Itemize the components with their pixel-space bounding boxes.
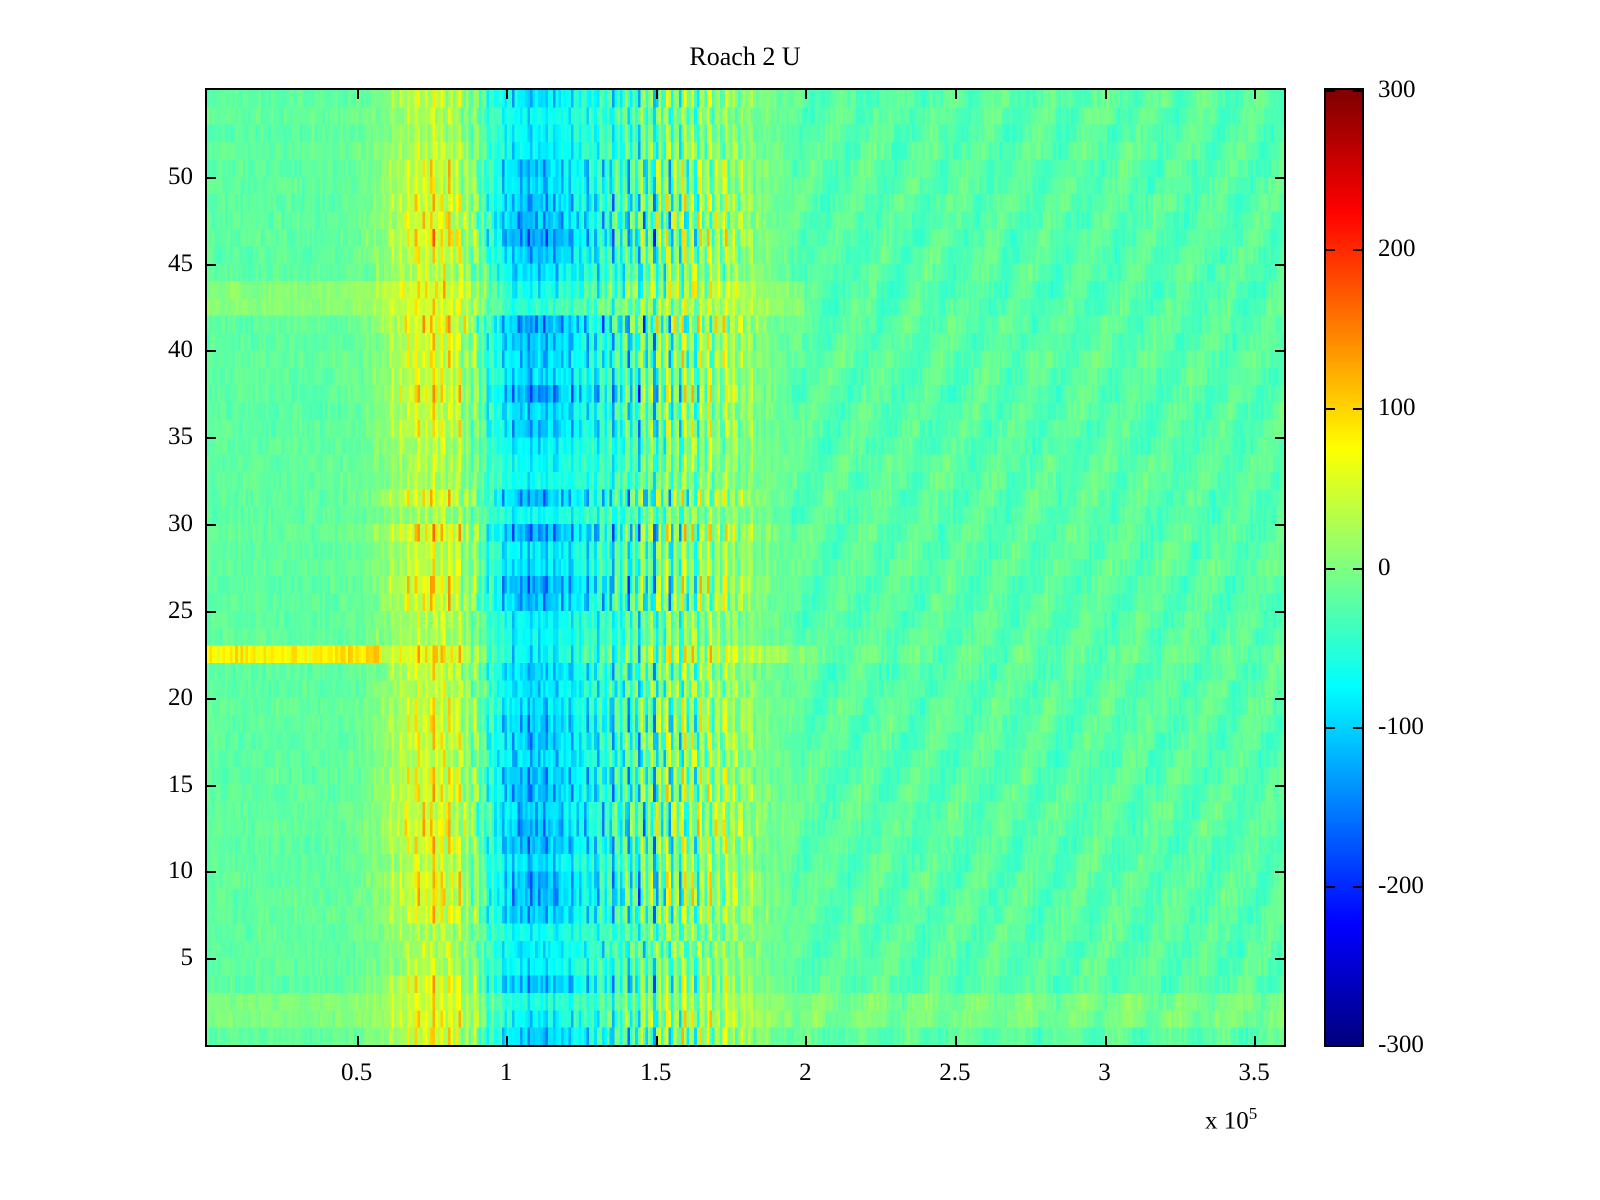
x-axis-tick-label: 1.5	[640, 1059, 671, 1087]
y-axis-tick-label: 50	[135, 163, 193, 191]
y-axis-tick-label: 35	[135, 423, 193, 451]
colorbar-tick-label: -300	[1378, 1031, 1424, 1059]
y-axis-tick	[207, 437, 216, 439]
x-axis-tick-label: 0.5	[341, 1059, 372, 1087]
y-axis-tick-label: 30	[135, 510, 193, 538]
x-axis-tick-label: 3.5	[1238, 1059, 1269, 1087]
colorbar-tick	[1326, 1045, 1335, 1047]
y-axis-tick	[207, 698, 216, 700]
colorbar-tick	[1353, 886, 1362, 888]
y-axis-tick	[1275, 177, 1284, 179]
colorbar-tick-label: 200	[1378, 235, 1416, 263]
x-axis-tick	[805, 90, 807, 99]
x-axis-tick-label: 1	[500, 1059, 513, 1087]
y-axis-tick-label: 40	[135, 336, 193, 364]
colorbar-tick	[1326, 249, 1335, 251]
x-axis-tick	[357, 1036, 359, 1045]
colorbar-tick-label: 0	[1378, 554, 1391, 582]
y-axis-tick	[1275, 350, 1284, 352]
colorbar-tick	[1353, 90, 1362, 92]
figure-canvas: Roach 2 U 0.511.522.533.5510152025303540…	[0, 0, 1600, 1200]
y-axis-tick	[207, 350, 216, 352]
colorbar[interactable]	[1324, 88, 1364, 1047]
colorbar-tick	[1353, 408, 1362, 410]
x-axis-tick-label: 3	[1098, 1059, 1111, 1087]
y-axis-tick	[1275, 871, 1284, 873]
y-axis-tick	[1275, 785, 1284, 787]
colorbar-tick-label: 100	[1378, 394, 1416, 422]
colorbar-tick	[1326, 568, 1335, 570]
x-axis-tick	[1105, 90, 1107, 99]
y-axis-tick	[207, 611, 216, 613]
y-axis-tick	[207, 958, 216, 960]
y-axis-tick	[1275, 698, 1284, 700]
heatmap-image	[207, 90, 1284, 1045]
colorbar-tick	[1353, 568, 1362, 570]
page-title: Roach 2 U	[205, 42, 1285, 72]
colorbar-tick-label: -200	[1378, 872, 1424, 900]
colorbar-tick	[1353, 727, 1362, 729]
x-axis-tick-label: 2	[799, 1059, 812, 1087]
x-axis-tick	[357, 90, 359, 99]
x-axis-tick	[955, 90, 957, 99]
y-axis-tick	[1275, 611, 1284, 613]
colorbar-tick-label: -100	[1378, 713, 1424, 741]
colorbar-tick	[1353, 1045, 1362, 1047]
y-axis-tick-label: 20	[135, 684, 193, 712]
y-axis-tick	[207, 785, 216, 787]
y-axis-tick-label: 5	[135, 944, 193, 972]
y-axis-tick-label: 10	[135, 857, 193, 885]
colorbar-tick	[1353, 249, 1362, 251]
colorbar-tick	[1326, 727, 1335, 729]
x-axis-tick	[1105, 1036, 1107, 1045]
x-axis-tick	[955, 1036, 957, 1045]
x-axis-tick	[506, 90, 508, 99]
y-axis-tick-label: 45	[135, 250, 193, 278]
x-axis-tick	[805, 1036, 807, 1045]
x-axis-tick	[1254, 90, 1256, 99]
x-axis-tick	[506, 1036, 508, 1045]
y-axis-tick	[207, 177, 216, 179]
x-axis-tick	[1254, 1036, 1256, 1045]
y-axis-tick	[1275, 524, 1284, 526]
colorbar-tick	[1326, 408, 1335, 410]
x-axis-exponent-label: x 105	[1205, 1104, 1257, 1135]
y-axis-tick	[207, 871, 216, 873]
y-axis-tick	[207, 524, 216, 526]
x-axis-tick	[656, 1036, 658, 1045]
heatmap-axes[interactable]	[205, 88, 1286, 1047]
colorbar-tick	[1326, 90, 1335, 92]
y-axis-tick	[207, 264, 216, 266]
colorbar-tick	[1326, 886, 1335, 888]
y-axis-tick	[1275, 437, 1284, 439]
colorbar-tick-label: 300	[1378, 76, 1416, 104]
y-axis-tick-label: 15	[135, 771, 193, 799]
y-axis-tick	[1275, 264, 1284, 266]
y-axis-tick-label: 25	[135, 597, 193, 625]
y-axis-tick	[1275, 958, 1284, 960]
x-axis-tick	[656, 90, 658, 99]
x-axis-tick-label: 2.5	[939, 1059, 970, 1087]
